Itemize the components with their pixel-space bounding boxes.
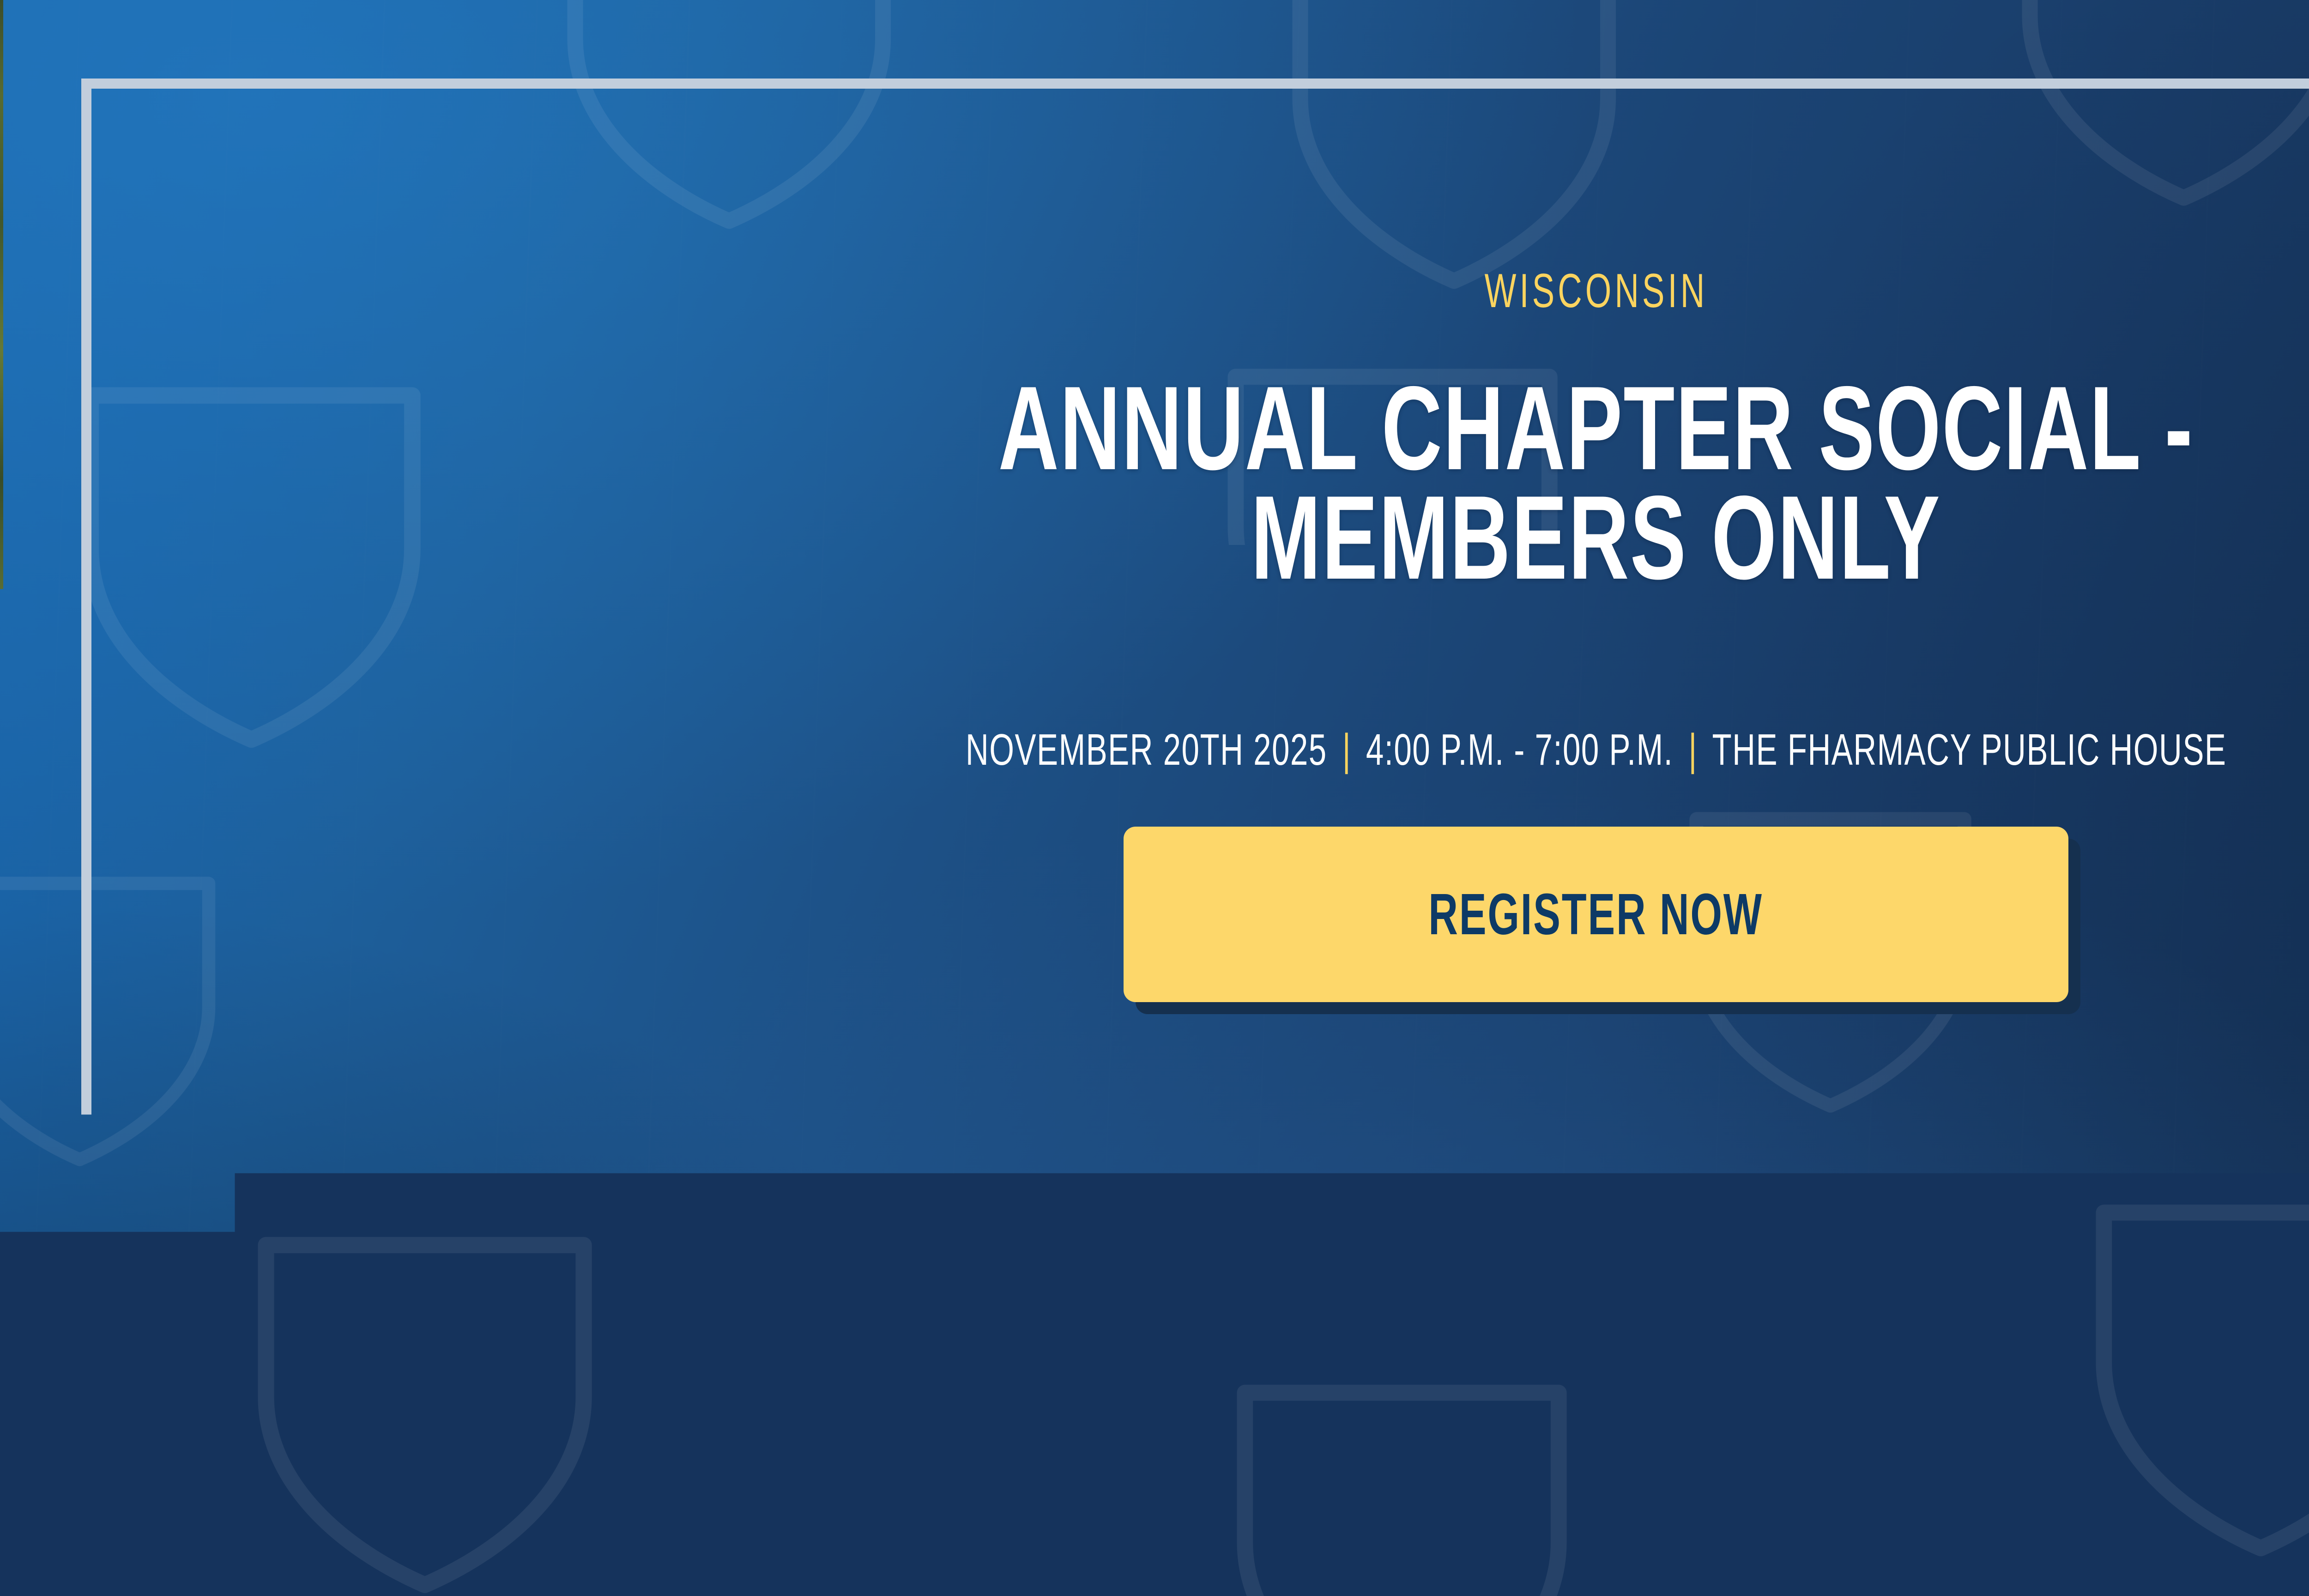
- banner-content: WISCONSIN ANNUAL CHAPTER SOCIAL - MEMBER…: [0, 0, 2309, 1596]
- event-title: ANNUAL CHAPTER SOCIAL - MEMBERS ONLY: [998, 373, 2194, 592]
- register-now-button[interactable]: REGISTER NOW: [1124, 827, 2068, 1002]
- event-banner: WISCONSIN ANNUAL CHAPTER SOCIAL - MEMBER…: [0, 0, 2309, 1596]
- event-time: 4:00 P.M. - 7:00 P.M.: [1366, 728, 1673, 772]
- event-date: NOVEMBER 20TH 2025: [966, 728, 1327, 772]
- detail-separator-1: |: [1327, 728, 1366, 772]
- event-details: NOVEMBER 20TH 2025 | 4:00 P.M. - 7:00 P.…: [966, 728, 2227, 772]
- register-button-label: REGISTER NOW: [1429, 885, 1764, 943]
- chapter-eyebrow: WISCONSIN: [1484, 267, 1708, 315]
- event-venue: THE FHARMACY PUBLIC HOUSE: [1712, 728, 2226, 772]
- detail-separator-2: |: [1673, 728, 1712, 772]
- cta-container: REGISTER NOW: [1124, 827, 2068, 1002]
